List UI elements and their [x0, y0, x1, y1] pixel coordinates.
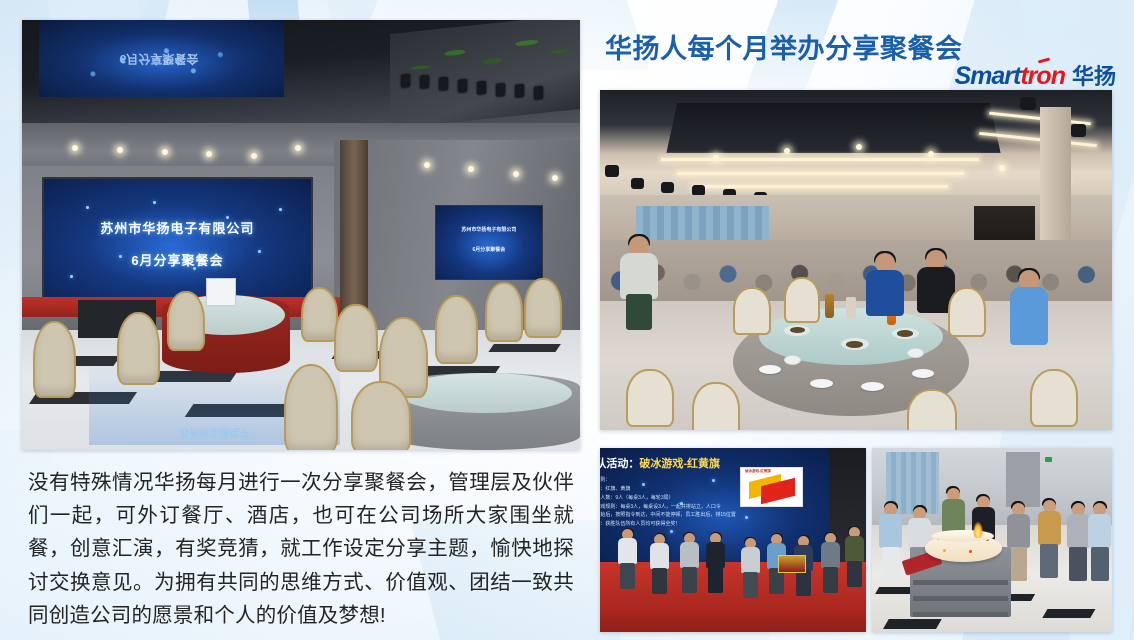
logo-text-o: o [1036, 62, 1050, 91]
participant [648, 534, 672, 596]
main-led-screen: 苏州市华扬电子有限公司 6月分享聚餐会 [42, 177, 314, 304]
led-screen-line-1: 苏州市华扬电子有限公司 [44, 218, 312, 237]
participant [677, 533, 701, 595]
participant [616, 529, 640, 591]
ceiling-mirror-text: 6月分享聚餐会 [73, 51, 245, 68]
standing-staff [615, 236, 663, 314]
body-caption: 没有特殊情况华扬每月进行一次分享聚餐会，管理层及伙伴们一起，可外订餐厅、酒店，也… [28, 466, 574, 632]
photo-hall-with-led-screen: 6月分享聚餐会 苏州市华扬电子有限公司 [22, 20, 580, 450]
photo-birthday-cake-ceremony [872, 448, 1112, 632]
logo-text-tr: tr [1020, 62, 1036, 91]
chair [301, 287, 338, 343]
game-screen-title: 队活动：破冰游戏-红黄旗 [600, 455, 720, 471]
seated-guest [1004, 270, 1054, 350]
flag-caption: 破冰游戏-红黄旗 [745, 469, 771, 474]
chair [435, 295, 478, 364]
side-led-line-2: 6月分享聚餐会 [436, 246, 542, 253]
dish [784, 325, 810, 336]
stage-light [631, 178, 644, 189]
stage-light [661, 182, 674, 193]
exit-sign-icon [1045, 457, 1052, 462]
logo-text-chinese: 华扬 [1072, 59, 1116, 91]
chair [334, 304, 377, 373]
side-led-line-1: 苏州市华扬电子有限公司 [436, 226, 542, 233]
attendee [1086, 503, 1112, 595]
chair [33, 321, 76, 398]
table-number-card [846, 297, 856, 319]
attendee [1035, 500, 1063, 594]
stage-light [605, 165, 619, 177]
led-screen-line-2: 6月分享聚餐会 [44, 250, 312, 269]
chair [524, 278, 561, 338]
dish [892, 328, 919, 339]
game-rule-line: 开始后，按照指令到达，中间不能停顿，员工胜出后，排15位置 [600, 511, 769, 520]
participant [818, 533, 842, 597]
game-title-prefix: 队活动： [600, 458, 639, 470]
brand-logo: Smart tr o n 华扬 [954, 59, 1116, 91]
slide-root: 华扬人每个月举办分享聚餐会 Smart tr o n 华扬 6月分享聚餐会 [0, 0, 1134, 640]
dish [841, 338, 869, 350]
chair [626, 369, 674, 427]
participant [704, 533, 728, 597]
plate [810, 379, 833, 388]
chair [485, 282, 522, 342]
stage-light [1071, 124, 1086, 137]
logo-text-n: n [1051, 62, 1065, 91]
chair [692, 382, 740, 430]
plate [912, 369, 934, 378]
participant [738, 538, 762, 598]
ceiling-panel [666, 103, 1000, 153]
table-menu-card [206, 278, 236, 306]
flag-illustration: 破冰游戏-红黄旗 [740, 467, 803, 507]
chair [733, 287, 771, 335]
seated-guest [861, 253, 909, 325]
beverage-bottle [825, 294, 834, 318]
attendee [877, 503, 905, 595]
chair [117, 312, 160, 385]
chair [907, 389, 957, 430]
photo-large-banquet [600, 90, 1112, 430]
chair [948, 287, 986, 337]
stage-light [1020, 97, 1036, 110]
birthday-cake [925, 534, 1002, 562]
chair [351, 381, 411, 450]
side-led-screen: 苏州市华扬电子有限公司 6月分享聚餐会 [435, 205, 543, 280]
prize-box [778, 555, 806, 573]
game-title-highlight: 破冰游戏-红黄旗 [639, 458, 720, 470]
photo-team-icebreaker-game: 队活动：破冰游戏-红黄旗 规则： 具：红旗、黄旗 加人数：9人（每桌3人，每轮3… [600, 448, 866, 632]
logo-text-smart: Smart [954, 62, 1020, 91]
candle-flame [973, 522, 983, 538]
participant [842, 527, 866, 593]
chair [284, 364, 338, 450]
page-title: 华扬人每个月举办分享聚餐会 [605, 27, 963, 66]
chair [167, 291, 204, 351]
chair [784, 277, 820, 323]
ceiling-mirror-reflection: 6月分享聚餐会 [39, 20, 285, 97]
chair [1030, 369, 1078, 427]
